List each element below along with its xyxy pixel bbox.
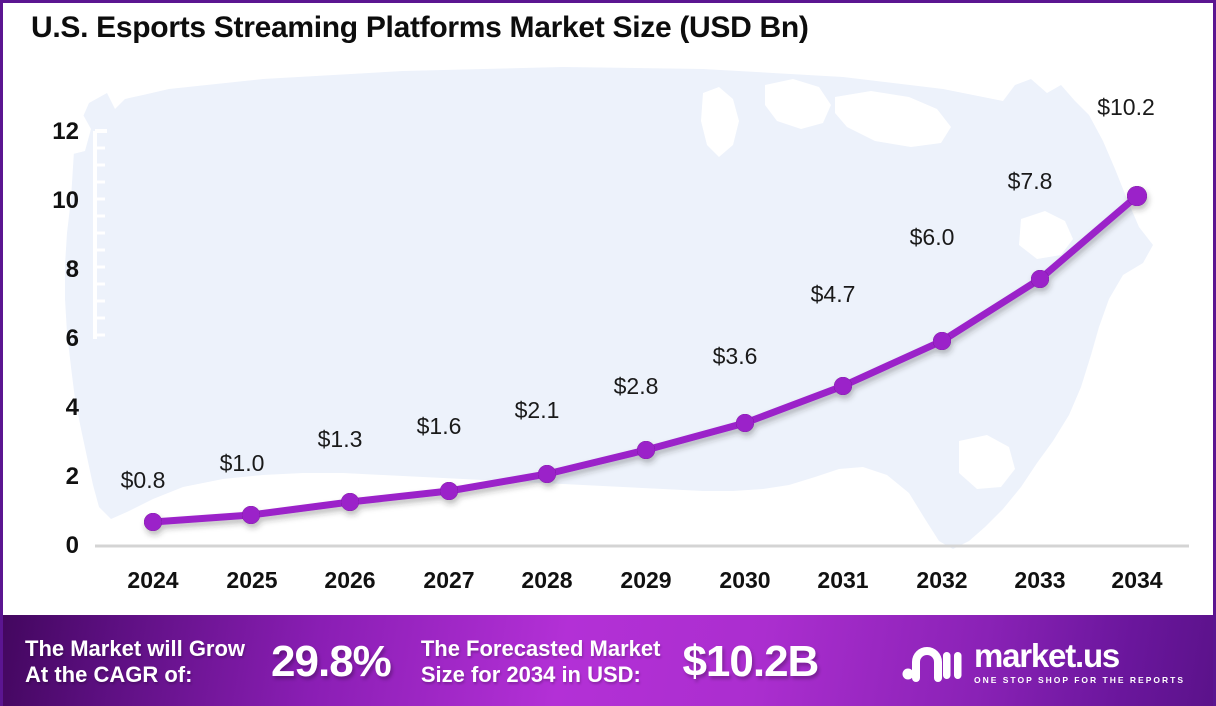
y-axis-line bbox=[95, 131, 107, 339]
y-tick-label: 10 bbox=[33, 187, 79, 215]
brand-tagline: ONE STOP SHOP FOR THE REPORTS bbox=[974, 675, 1185, 685]
x-tick-label: 2032 bbox=[892, 567, 992, 594]
x-tick-label: 2025 bbox=[202, 567, 302, 594]
y-tick-label: 0 bbox=[33, 532, 79, 560]
data-point-label: $2.8 bbox=[591, 373, 681, 400]
forecast-caption: The Forecasted Market Size for 2034 in U… bbox=[421, 636, 661, 687]
page-title: U.S. Esports Streaming Platforms Market … bbox=[31, 11, 809, 45]
brand-text-block: market.us ONE STOP SHOP FOR THE REPORTS bbox=[974, 639, 1185, 685]
data-point-label: $0.8 bbox=[98, 467, 188, 494]
y-tick-label: 6 bbox=[33, 325, 79, 353]
data-point-label: $3.6 bbox=[690, 343, 780, 370]
data-point-label: $1.3 bbox=[295, 426, 385, 453]
brand-logo[interactable]: market.us ONE STOP SHOP FOR THE REPORTS bbox=[902, 639, 1185, 685]
chart-svg bbox=[3, 49, 1213, 609]
series-group bbox=[144, 186, 1147, 531]
x-tick-label: 2029 bbox=[596, 567, 696, 594]
x-tick-label: 2033 bbox=[990, 567, 1090, 594]
footer-banner: The Market will Grow At the CAGR of: 29.… bbox=[3, 615, 1216, 706]
cagr-value: 29.8% bbox=[271, 637, 391, 687]
x-tick-label: 2030 bbox=[695, 567, 795, 594]
chart-plot-area: 12 10 8 6 4 2 0 $0.8 $1.0 $1.3 $1.6 $2.1… bbox=[3, 49, 1213, 609]
data-point-label: $1.0 bbox=[197, 450, 287, 477]
series-line bbox=[153, 196, 1137, 522]
data-point-label: $7.8 bbox=[985, 168, 1075, 195]
y-tick-label: 8 bbox=[33, 256, 79, 284]
x-tick-label: 2026 bbox=[300, 567, 400, 594]
data-point-label: $1.6 bbox=[394, 413, 484, 440]
y-tick-label: 2 bbox=[33, 463, 79, 491]
data-point-label: $4.7 bbox=[788, 281, 878, 308]
y-tick-label: 4 bbox=[33, 394, 79, 422]
data-point-label: $2.1 bbox=[492, 397, 582, 424]
x-tick-label: 2024 bbox=[103, 567, 203, 594]
x-tick-label: 2031 bbox=[793, 567, 893, 594]
infographic-root: U.S. Esports Streaming Platforms Market … bbox=[0, 0, 1216, 706]
data-point-label: $10.2 bbox=[1081, 94, 1171, 121]
forecast-value: $10.2B bbox=[682, 637, 818, 687]
data-point-label: $6.0 bbox=[887, 224, 977, 251]
cagr-caption: The Market will Grow At the CAGR of: bbox=[25, 636, 245, 687]
x-tick-label: 2027 bbox=[399, 567, 499, 594]
x-tick-label: 2028 bbox=[497, 567, 597, 594]
market-us-logo-icon bbox=[902, 642, 964, 682]
x-tick-label: 2034 bbox=[1087, 567, 1187, 594]
y-tick-label: 12 bbox=[33, 118, 79, 146]
brand-name: market.us bbox=[974, 639, 1185, 672]
